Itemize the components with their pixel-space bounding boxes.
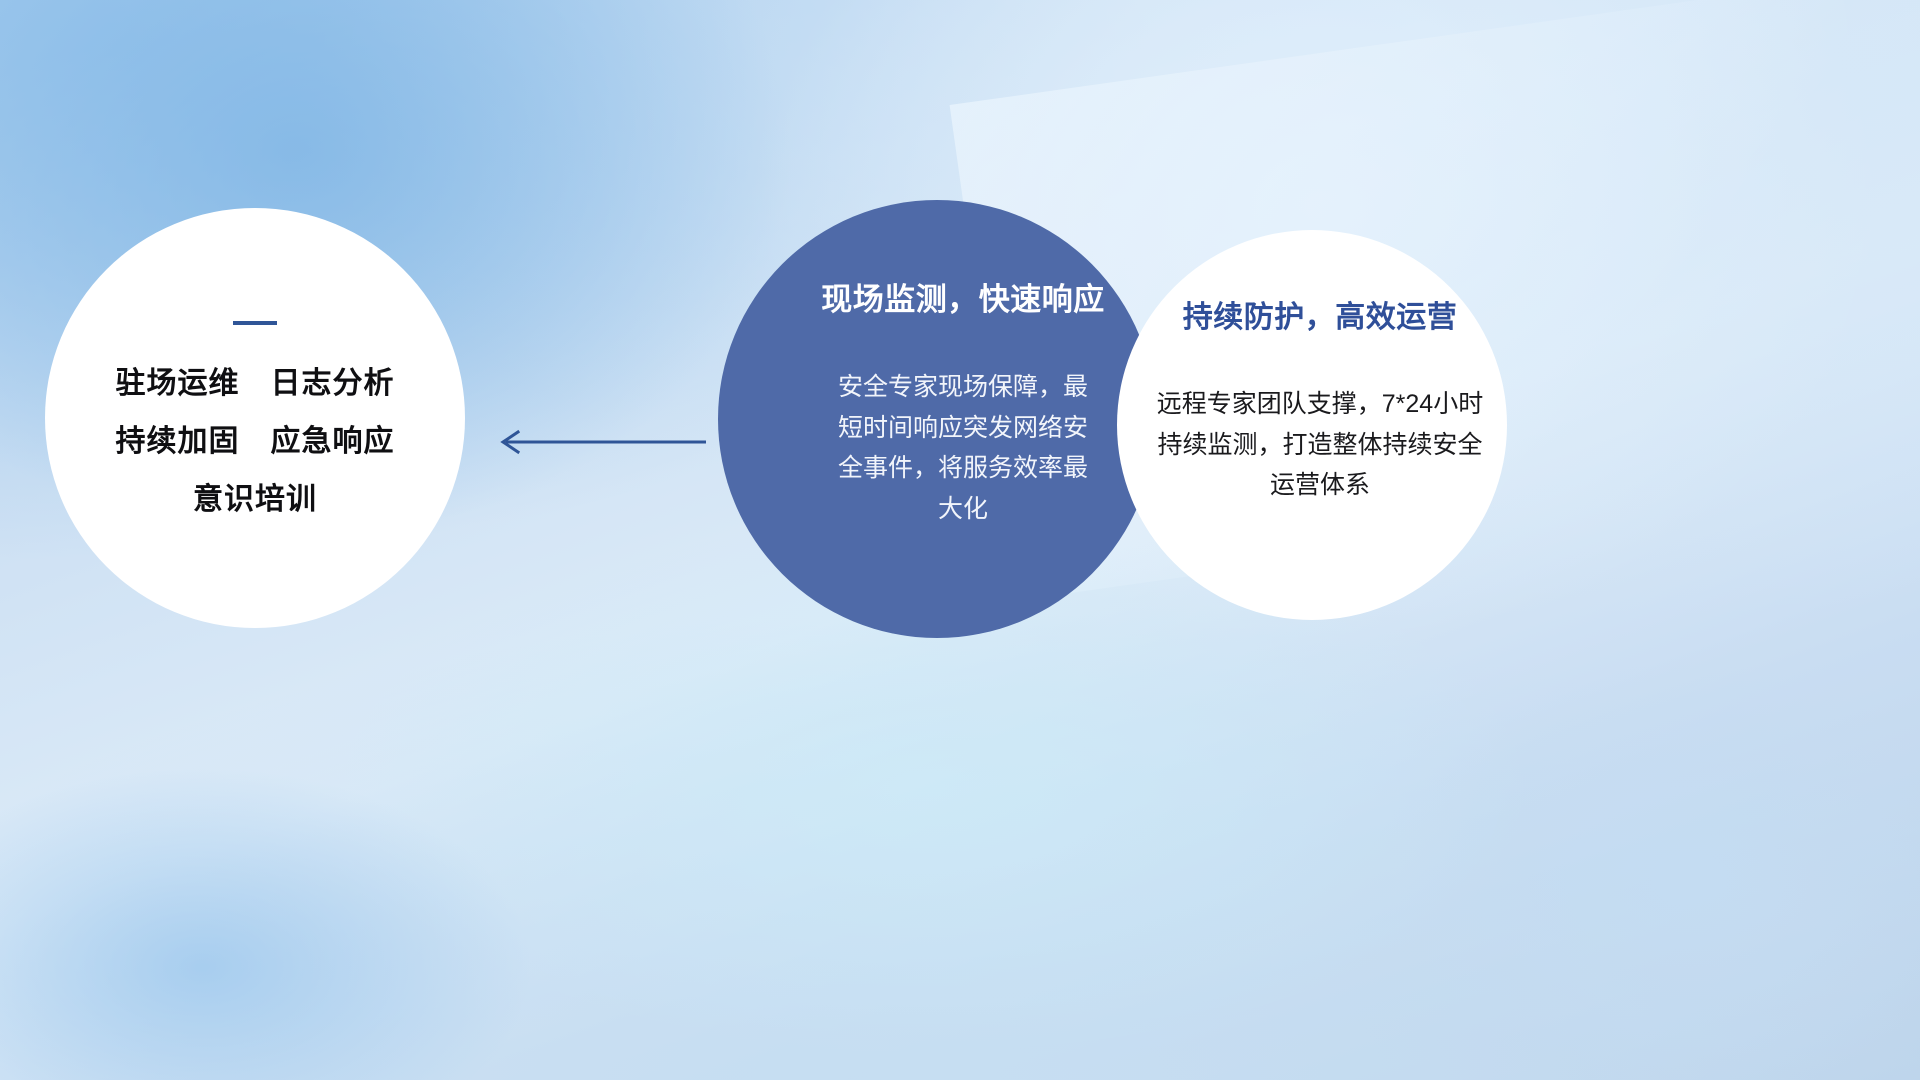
divider-dash	[233, 321, 277, 325]
slide-canvas: 驻场运维 日志分析 持续加固 应急响应 意识培训 现场监测，快速响应 安全专家现…	[0, 0, 1920, 1080]
skills-circle[interactable]: 驻场运维 日志分析 持续加固 应急响应 意识培训	[45, 208, 465, 628]
skills-line-1: 驻场运维 日志分析	[116, 369, 395, 399]
background-gradient-wash	[0, 760, 620, 1080]
continuous-body: 远程专家团队支撑，7*24小时持续监测，打造整体持续安全运营体系	[1151, 384, 1489, 506]
onsite-body: 安全专家现场保障，最短时间响应突发网络安全事件，将服务效率最大化	[828, 367, 1098, 529]
onsite-monitoring-circle[interactable]: 现场监测，快速响应 安全专家现场保障，最短时间响应突发网络安全事件，将服务效率最…	[718, 200, 1156, 638]
skills-line-3: 意识培训	[193, 485, 317, 515]
background-gradient-wash	[1340, 620, 1920, 1080]
arrow-left-icon	[492, 426, 708, 458]
skills-line-2: 持续加固 应急响应	[116, 427, 395, 457]
continuous-protection-circle[interactable]: 持续防护，高效运营 远程专家团队支撑，7*24小时持续监测，打造整体持续安全运营…	[1117, 230, 1507, 620]
continuous-title: 持续防护，高效运营	[1183, 292, 1458, 336]
onsite-title: 现场监测，快速响应	[821, 274, 1105, 319]
